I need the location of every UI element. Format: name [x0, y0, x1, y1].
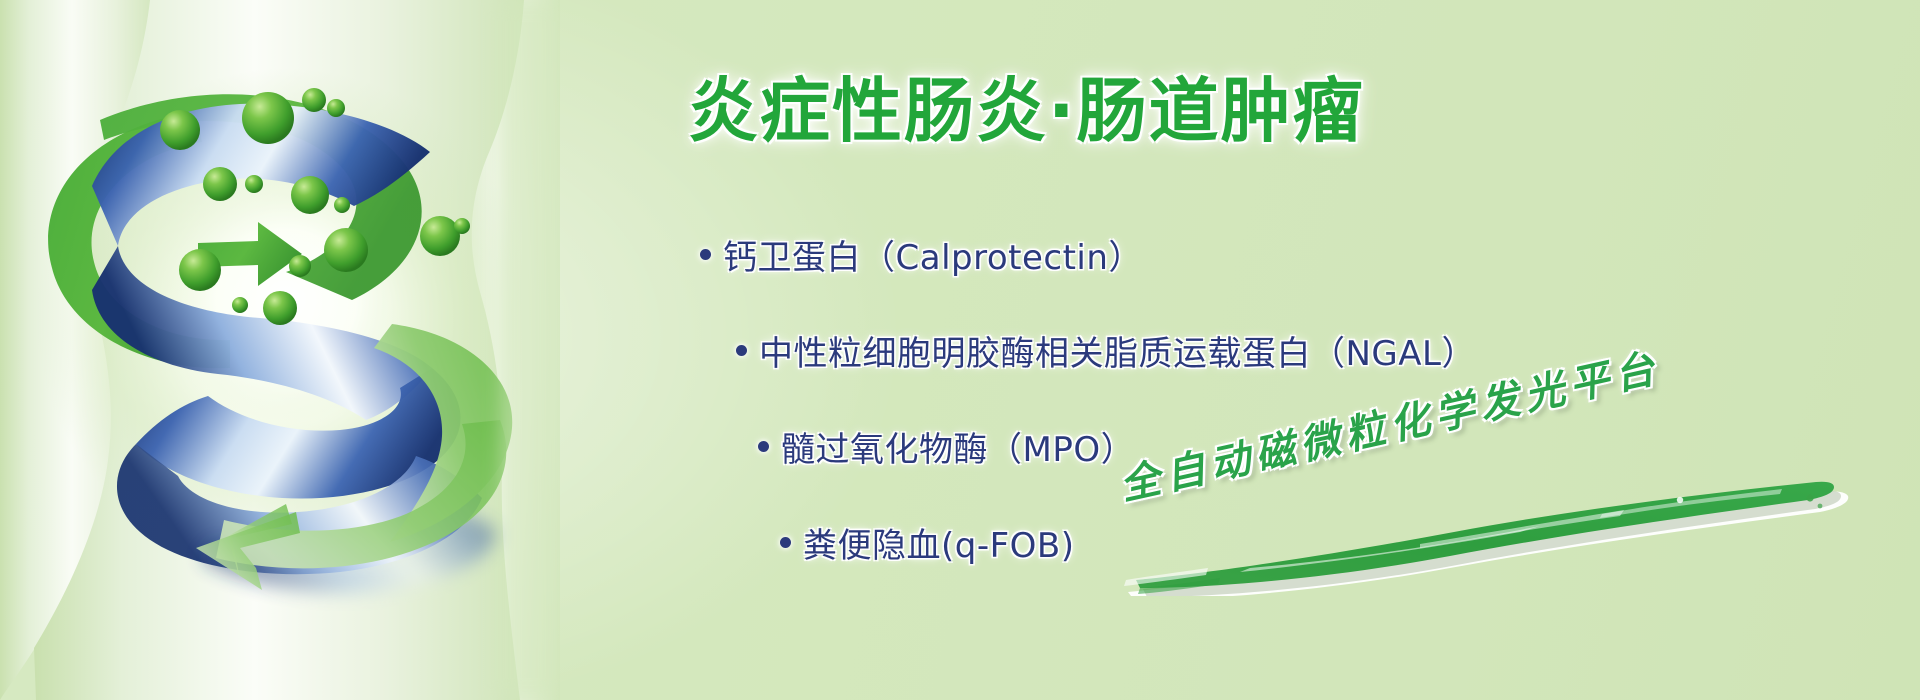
brush-stroke-underline [1120, 476, 1900, 596]
list-item-label: 钙卫蛋白（Calprotectin） [723, 230, 1143, 279]
tagline-block: 全自动磁微粒化学发光平台 [1120, 380, 1900, 580]
list-item-label: 中性粒细胞明胶酶相关脂质运载蛋白（NGAL） [759, 326, 1476, 375]
page-title: 炎症性肠炎·肠道肿瘤 [688, 76, 1365, 146]
bullet-dot-icon [780, 537, 791, 548]
banner-root: 炎症性肠炎·肠道肿瘤 钙卫蛋白（Calprotectin） 中性粒细胞明胶酶相关… [0, 0, 1920, 700]
list-item-label: 髓过氧化物酶（MPO） [781, 422, 1135, 471]
list-item: 钙卫蛋白（Calprotectin） [700, 228, 1700, 280]
list-item-label: 粪便隐血(q-FOB) [803, 518, 1075, 567]
abdomen-helix-illustration [0, 0, 560, 700]
bullet-dot-icon [736, 345, 747, 356]
bullet-dot-icon [758, 441, 769, 452]
bullet-dot-icon [700, 249, 711, 260]
